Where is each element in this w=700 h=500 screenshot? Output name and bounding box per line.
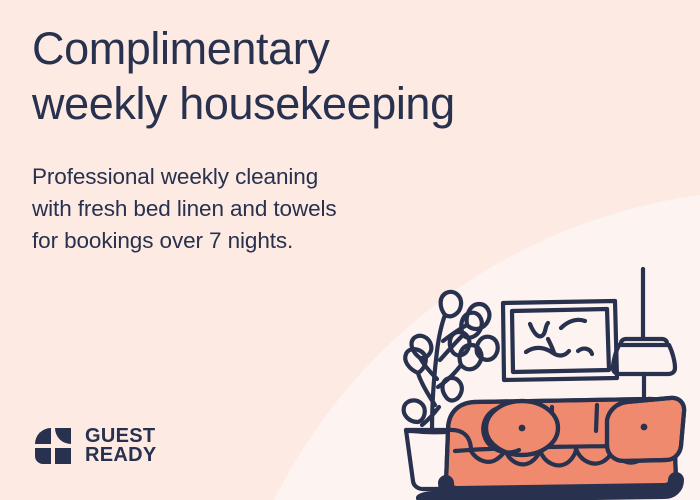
page-title: Complimentary weekly housekeeping [32,22,632,132]
round-cushion [483,401,558,455]
sofa [446,398,684,494]
framed-picture [503,301,617,380]
promo-banner: Complimentary weekly housekeeping Profes… [0,0,700,500]
pendant-lamp [613,269,675,400]
guestready-logo: GUEST READY [32,425,157,467]
square-pillow [607,398,684,461]
guestready-quadrant-mark [32,425,74,467]
living-room-illustration [385,255,690,500]
banner-content: Complimentary weekly housekeeping Profes… [0,0,700,500]
logo-wordmark: GUEST READY [85,427,157,465]
banner-subcopy: Professional weekly cleaning with fresh … [32,161,452,257]
